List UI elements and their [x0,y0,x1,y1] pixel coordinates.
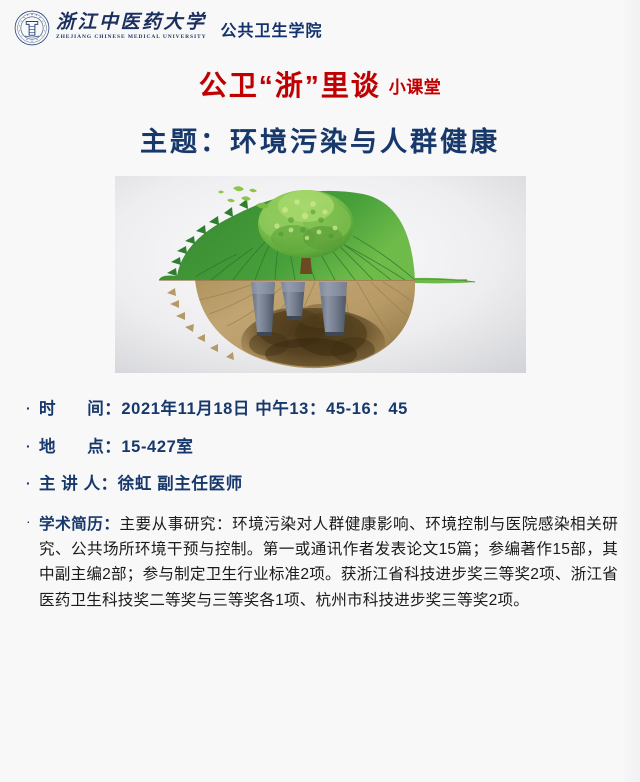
subject-row: 主题：环境污染与人群健康 [0,120,640,159]
info-label-location: 地 点： [39,437,121,458]
bullet-icon: · [26,437,39,456]
college-name: 公共卫生学院 [221,17,323,41]
series-title: 公卫“浙”里谈 [199,70,381,101]
academic-bio-body: 学术简历：主要从事研究：环境污染对人群健康影响、环境控制与医院感染相关研究、公共… [39,512,618,613]
university-seal-icon [14,10,50,46]
bullet-icon: · [26,512,39,531]
hero-image-wrapper [0,176,640,373]
info-label-speaker: 主 讲 人： [39,474,118,495]
info-row-time: · 时 间： 2021年11月18日 中午13：45-16：45 [26,399,616,420]
page-header: 浙江中医药大学 ZHEJIANG CHINESE MEDICAL UNIVERS… [0,0,640,44]
poster-page: 浙江中医药大学 ZHEJIANG CHINESE MEDICAL UNIVERS… [0,0,640,782]
info-value-speaker: 徐虹 副主任医师 [118,474,616,495]
info-value-time: 2021年11月18日 中午13：45-16：45 [121,399,616,420]
university-name-block: 浙江中医药大学 ZHEJIANG CHINESE MEDICAL UNIVERS… [56,13,207,41]
academic-bio-text: 主要从事研究：环境污染对人群健康影响、环境控制与医院感染相关研究、公共场所环境干… [39,516,618,609]
info-label-time: 时 间： [39,399,121,420]
university-name-cn: 浙江中医药大学 [56,13,207,33]
info-value-location: 15-427室 [121,437,616,458]
info-row-location: · 地 点： 15-427室 [26,437,616,458]
leaf-pollution-illustration [115,176,526,373]
university-name-en: ZHEJIANG CHINESE MEDICAL UNIVERSITY [56,33,210,41]
lecture-subject: 主题：环境污染与人群健康 [140,127,500,157]
series-subtitle: 小课堂 [389,78,442,97]
series-title-row: 公卫“浙”里谈小课堂 [0,64,640,104]
academic-bio-row: · 学术简历：主要从事研究：环境污染对人群健康影响、环境控制与医院感染相关研究、… [0,512,640,613]
bullet-icon: · [26,474,39,493]
bullet-icon: · [26,399,39,418]
info-row-speaker: · 主 讲 人： 徐虹 副主任医师 [26,474,616,495]
leaf-illustration-svg [115,176,526,373]
academic-bio-label: 学术简历： [39,516,119,533]
event-info-list: · 时 间： 2021年11月18日 中午13：45-16：45 · 地 点： … [0,399,640,495]
